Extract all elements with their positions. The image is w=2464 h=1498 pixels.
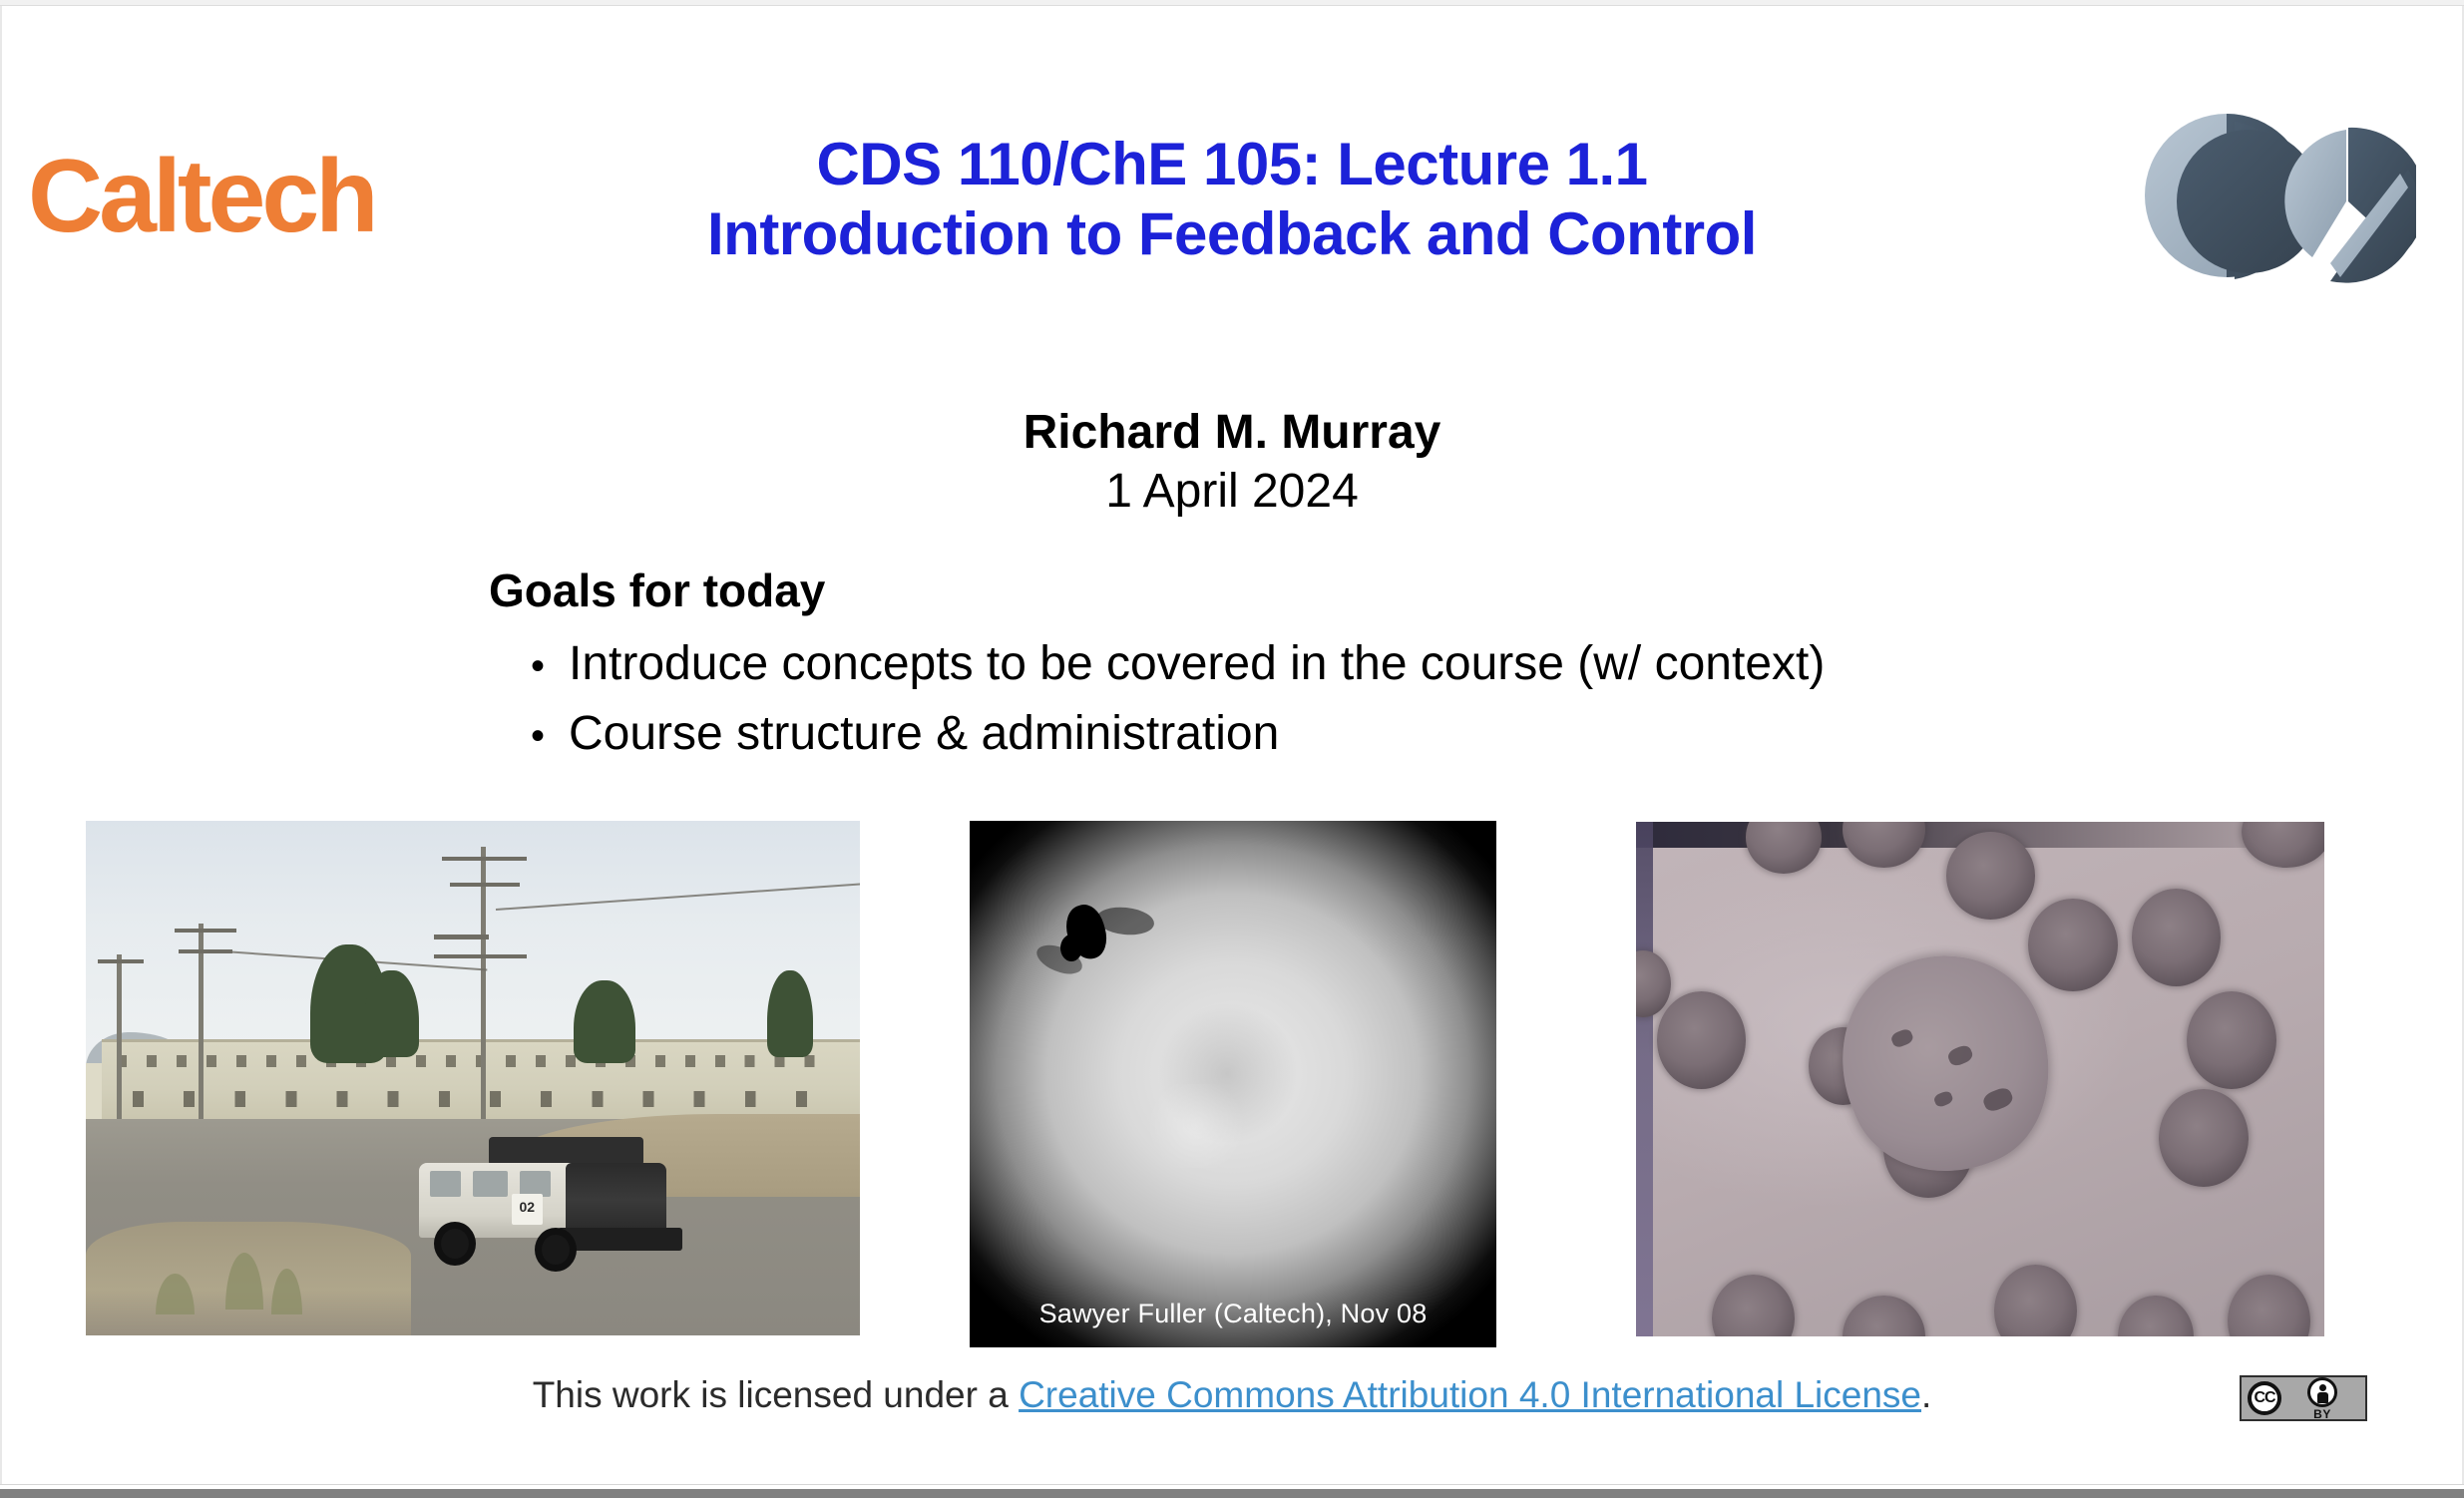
pole-crossarm <box>175 929 236 933</box>
presentation-date: 1 April 2024 <box>0 462 2464 522</box>
red-blood-cell <box>1657 991 1747 1089</box>
vehicle-race-number: 02 <box>512 1194 543 1225</box>
author-block: Richard M. Murray 1 April 2024 <box>0 404 2464 522</box>
fly-head <box>1060 935 1082 961</box>
vehicle-window <box>473 1171 508 1197</box>
arena-highlight-blob <box>1143 1084 1249 1168</box>
vehicle-window <box>430 1171 461 1197</box>
streetlight-arm <box>434 935 488 939</box>
slide-canvas: Caltech CDS 110/ChE 105: Lecture 1.1 Int… <box>0 0 2464 1498</box>
creative-commons-by-badge[interactable]: CC BY <box>2240 1375 2367 1421</box>
slide-title: CDS 110/ChE 105: Lecture 1.1 Introductio… <box>0 130 2464 268</box>
title-line-1: CDS 110/ChE 105: Lecture 1.1 <box>0 130 2464 199</box>
by-icon-group: BY <box>2307 1377 2337 1420</box>
fly-photo-caption: Sawyer Fuller (Caltech), Nov 08 <box>970 1299 1496 1329</box>
cell-granule <box>1981 1085 2015 1114</box>
license-prefix-text: This work is licensed under a <box>533 1374 1019 1415</box>
goals-item-text: Course structure & administration <box>569 710 1279 758</box>
cypress-tree <box>364 970 418 1058</box>
cell-granule <box>1889 1027 1914 1049</box>
red-blood-cell <box>2187 991 2276 1089</box>
vehicle-bumper <box>558 1228 681 1251</box>
cypress-tree <box>574 980 635 1063</box>
license-footer: This work is licensed under a Creative C… <box>0 1374 2464 1416</box>
cell-granule <box>1932 1090 1954 1109</box>
micrograph-left-edge <box>1636 822 1653 1336</box>
vehicle-window <box>520 1171 551 1197</box>
author-name: Richard M. Murray <box>0 404 2464 462</box>
red-blood-cell <box>1946 832 2036 920</box>
window-scrollbar-track[interactable] <box>0 1489 2464 1498</box>
red-blood-cell <box>2028 899 2118 991</box>
building-window-row-upper <box>117 1055 829 1067</box>
license-suffix-text: . <box>1921 1374 1931 1415</box>
bullet-icon: • <box>531 716 569 756</box>
license-link[interactable]: Creative Commons Attribution 4.0 Interna… <box>1019 1374 1921 1415</box>
by-label: BY <box>2313 1408 2331 1420</box>
building-window-row-lower <box>133 1091 814 1108</box>
cell-micrograph-photo <box>1636 822 2324 1336</box>
goals-heading: Goals for today <box>489 563 1825 618</box>
utility-pole-far-left <box>117 954 122 1119</box>
goals-list-item: • Introduce concepts to be covered in th… <box>531 640 1825 688</box>
pole-crossarm <box>98 959 145 963</box>
autonomous-vehicle-photo: 02 <box>86 821 860 1335</box>
fly-arena-photo: Sawyer Fuller (Caltech), Nov 08 <box>970 821 1496 1347</box>
pole-crossarm <box>434 954 527 958</box>
attribution-person-icon <box>2307 1377 2337 1407</box>
vehicle-sensor-rack <box>489 1137 643 1165</box>
cc-icon: CC <box>2248 1381 2281 1415</box>
pole-crossarm <box>442 857 527 861</box>
cell-granule <box>1945 1043 1975 1068</box>
person-body-shape <box>2317 1392 2328 1403</box>
red-blood-cell <box>2132 889 2222 986</box>
goals-list-item: • Course structure & administration <box>531 710 1825 758</box>
bullet-icon: • <box>531 646 569 686</box>
window-top-edge <box>0 0 2464 6</box>
goals-item-text: Introduce concepts to be covered in the … <box>569 640 1825 688</box>
goals-section: Goals for today • Introduce concepts to … <box>489 563 1825 758</box>
vehicle-front-wheel <box>535 1228 577 1272</box>
red-blood-cell <box>2159 1089 2249 1187</box>
person-head-shape <box>2319 1384 2326 1391</box>
pole-crossarm <box>450 883 520 887</box>
title-line-2: Introduction to Feedback and Control <box>0 199 2464 269</box>
utility-pole-center <box>481 847 486 1119</box>
